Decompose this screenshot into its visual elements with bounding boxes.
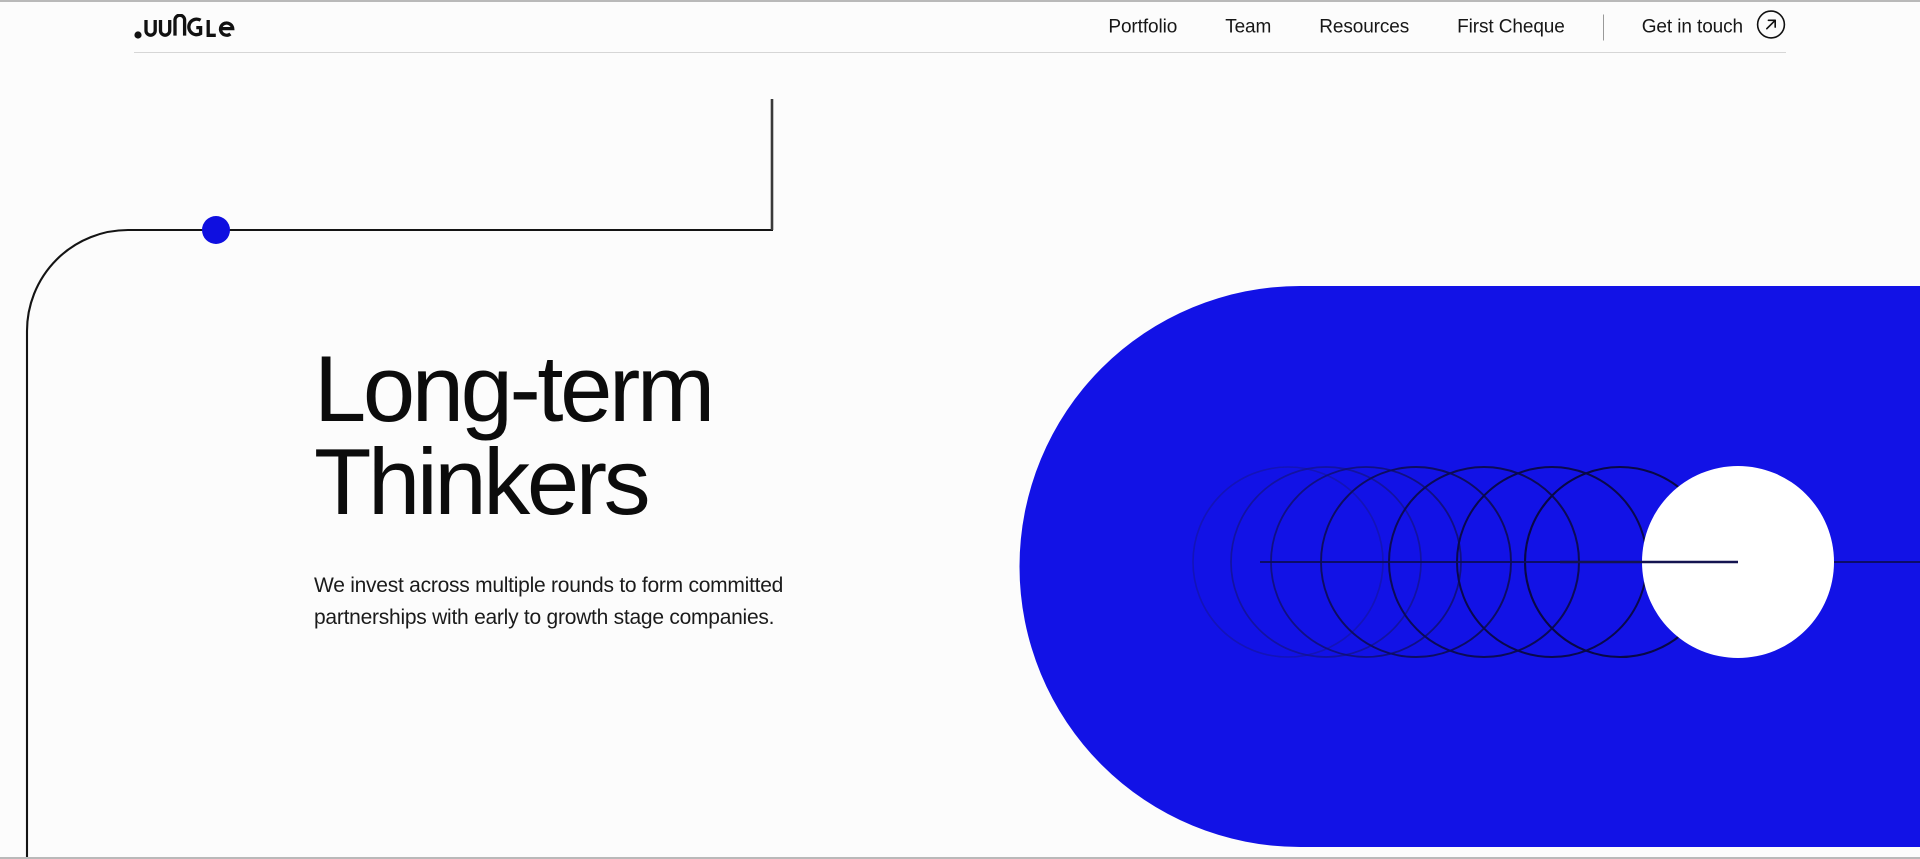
nav-item-first-cheque[interactable]: First Cheque bbox=[1433, 16, 1589, 38]
nav-divider bbox=[1603, 14, 1604, 40]
hero-graphic bbox=[860, 2, 1920, 859]
circle-series-faint bbox=[1125, 467, 1461, 657]
nav-item-portfolio[interactable]: Portfolio bbox=[1084, 16, 1201, 38]
circle-series-navy bbox=[1193, 467, 1920, 657]
hero-content: Long-term Thinkers We invest across mult… bbox=[314, 342, 954, 634]
page-title: Long-term Thinkers bbox=[314, 342, 954, 528]
page-viewport: Portfolio Team Resources First Cheque Ge… bbox=[0, 0, 1920, 859]
logo[interactable] bbox=[134, 12, 240, 42]
hero-subtitle: We invest across multiple rounds to form… bbox=[314, 570, 859, 634]
jungle-wordmark-icon bbox=[134, 14, 240, 40]
blue-dot-marker bbox=[202, 216, 230, 244]
title-line-2: Thinkers bbox=[314, 435, 954, 528]
blue-pill-shape bbox=[1020, 286, 1920, 847]
nav-item-team[interactable]: Team bbox=[1201, 16, 1295, 38]
title-line-1: Long-term bbox=[314, 342, 954, 435]
main-nav: Portfolio Team Resources First Cheque Ge… bbox=[1084, 10, 1786, 45]
header-divider-rule bbox=[134, 52, 1786, 53]
white-circle bbox=[1642, 466, 1834, 658]
arrow-up-right-circle-icon bbox=[1756, 10, 1786, 45]
get-in-touch-label: Get in touch bbox=[1642, 16, 1743, 38]
get-in-touch-button[interactable]: Get in touch bbox=[1618, 10, 1786, 45]
nav-item-resources[interactable]: Resources bbox=[1295, 16, 1433, 38]
site-header: Portfolio Team Resources First Cheque Ge… bbox=[0, 2, 1920, 52]
